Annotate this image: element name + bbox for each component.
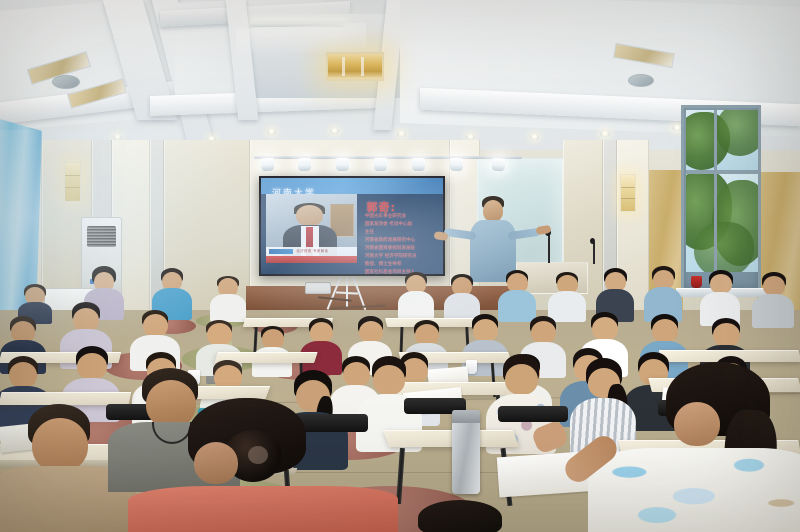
attendee-front-head <box>394 500 524 532</box>
video-channel-badge <box>269 249 293 255</box>
window-pane-upper <box>686 110 758 170</box>
recessed-spot-5 <box>397 131 406 137</box>
slide-line-1: 国家发改委 考试中心副 <box>365 221 436 229</box>
lecture-hall-photo: 河南大学 经济视角 专家解读 郭奇: 中国光彩事业研究会 国家发改委 考试中心副… <box>0 0 800 532</box>
track-light-2 <box>298 158 312 172</box>
track-light-4 <box>374 158 387 171</box>
slide-line-2: 主任 <box>365 229 436 237</box>
recessed-spot-8 <box>600 131 610 137</box>
track-light-1 <box>261 158 275 172</box>
video-caption-text: 经济视角 专家解读 <box>296 248 328 253</box>
woman-coral-shirt <box>128 398 398 532</box>
screen-video-frame: 经济视角 专家解读 <box>266 194 357 263</box>
ceiling-box-light <box>326 52 384 81</box>
slide-line-3: 河南省政府发展研究中心 <box>365 237 436 245</box>
presenter-head <box>483 200 503 222</box>
chair-back-3 <box>498 406 568 422</box>
recessed-spot-4 <box>330 128 339 134</box>
track-light-7 <box>492 158 506 172</box>
wall-sconce-right <box>620 174 636 212</box>
video-person-head <box>296 205 323 226</box>
slide-line-4: 河南省国资委规划发展处 <box>365 245 436 253</box>
woman-patterned-top <box>588 362 800 532</box>
ceiling-round-vent-1 <box>52 75 80 89</box>
recessed-spot-3 <box>267 129 276 135</box>
steel-thermos[interactable] <box>452 410 480 494</box>
ceiling-round-vent-2 <box>628 74 654 87</box>
window-mullion-vertical <box>714 110 717 272</box>
track-light-rail <box>254 156 522 159</box>
slide-line-0: 中国光彩事业研究会 <box>365 213 436 221</box>
wall-sconce-left <box>64 162 81 202</box>
recessed-spot-7 <box>530 134 539 140</box>
track-light-5 <box>412 158 425 171</box>
track-light-3 <box>336 158 349 171</box>
desk-front-mid-right <box>383 430 519 447</box>
track-light-6 <box>450 158 464 172</box>
podium-mic-head-2 <box>590 238 595 244</box>
